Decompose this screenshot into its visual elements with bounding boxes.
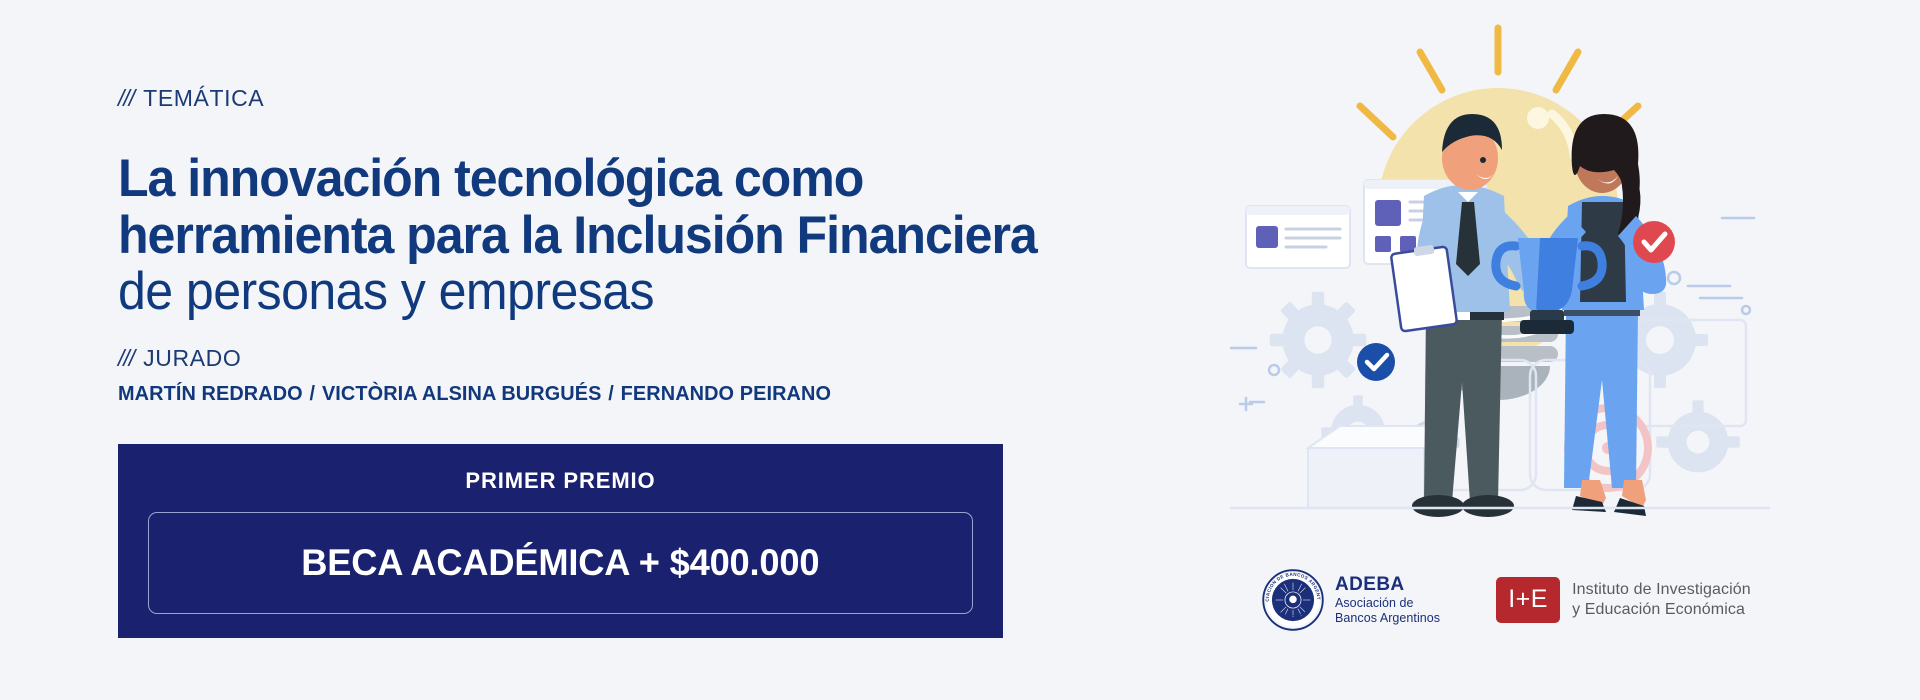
- ie-line-1: Instituto de Investigación: [1572, 580, 1751, 600]
- adeba-subtitle-line-2: Bancos Argentinos: [1335, 611, 1440, 626]
- jury-member-list: MARTÍN REDRADO/VICTÒRIA ALSINA BURGUÉS/F…: [118, 382, 831, 406]
- prize-title: PRIMER PREMIO: [148, 464, 973, 512]
- check-badge-blue: [1357, 343, 1395, 381]
- decorative-plus: [1240, 398, 1252, 410]
- slashes-icon: ///: [118, 345, 134, 372]
- ie-mark-icon: I+E: [1496, 577, 1560, 623]
- headline-line-1: La innovación tecnológica como: [118, 151, 1158, 207]
- adeba-logo: ASOCIACION DE BANCOS ARGENTINOS • ADEBA …: [1262, 569, 1440, 631]
- clipboard-icon: [1391, 245, 1457, 332]
- ie-line-2: y Educación Económica: [1572, 600, 1751, 620]
- check-badge-red: [1633, 221, 1675, 263]
- ie-wordmark: Instituto de Investigación y Educación E…: [1572, 580, 1751, 619]
- prize-amount-box: BECA ACADÉMICA + $400.000: [148, 512, 973, 614]
- tematica-eyebrow: /// TEMÁTICA: [118, 85, 264, 112]
- headline-line-3: de personas y empresas: [118, 264, 1158, 320]
- logo-row: ASOCIACION DE BANCOS ARGENTINOS • ADEBA …: [1262, 552, 1782, 647]
- slashes-icon: ///: [118, 85, 134, 112]
- headline-line-2: herramienta para la Inclusión Financiera: [118, 208, 1158, 264]
- page-title: La innovación tecnológica como herramien…: [118, 151, 1218, 320]
- ie-logo: I+E Instituto de Investigación y Educaci…: [1496, 577, 1751, 623]
- adeba-name: ADEBA: [1335, 574, 1440, 596]
- jury-separator: /: [303, 382, 322, 405]
- jury-member: FERNANDO PEIRANO: [621, 382, 831, 405]
- jury-separator: /: [601, 382, 620, 405]
- jury-member: VICTÒRIA ALSINA BURGUÉS: [322, 382, 602, 405]
- adeba-subtitle-line-1: Asociación de: [1335, 596, 1440, 611]
- adeba-wordmark: ADEBA Asociación de Bancos Argentinos: [1335, 574, 1440, 626]
- hero-illustration: [1230, 10, 1770, 540]
- jurado-eyebrow: /// JURADO: [118, 345, 241, 372]
- chart-card-small: [1246, 206, 1350, 268]
- jury-member: MARTÍN REDRADO: [118, 382, 303, 405]
- promo-banner: /// TEMÁTICA La innovación tecnológica c…: [0, 0, 1920, 700]
- adeba-seal-icon: ASOCIACION DE BANCOS ARGENTINOS • ADEBA …: [1262, 569, 1324, 631]
- prize-amount: BECA ACADÉMICA + $400.000: [301, 542, 819, 584]
- jurado-label: JURADO: [143, 345, 241, 372]
- tematica-label: TEMÁTICA: [143, 85, 264, 112]
- illustration-svg: [1230, 10, 1770, 540]
- prize-block: PRIMER PREMIO BECA ACADÉMICA + $400.000: [118, 444, 1003, 638]
